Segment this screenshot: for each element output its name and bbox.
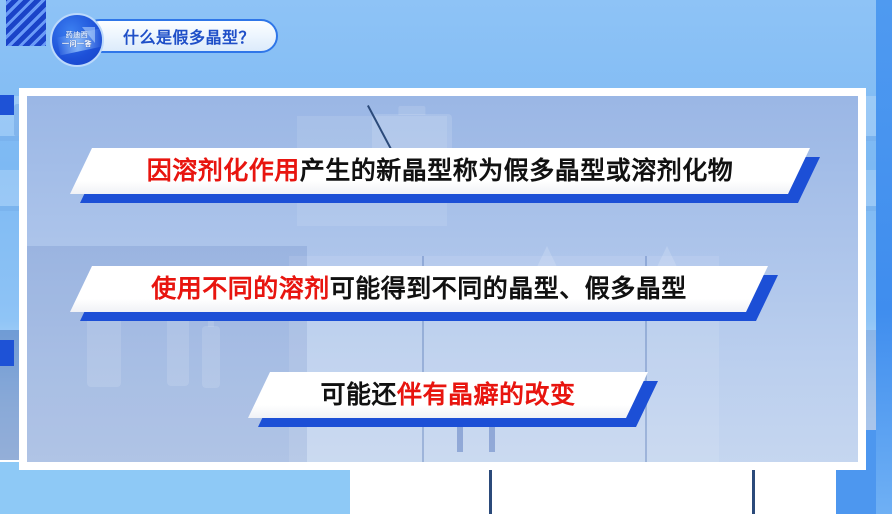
decor-right-edge xyxy=(876,0,892,514)
badge-line-2: 一问一答 xyxy=(62,40,92,49)
banner-2-plain: 可能得到不同的晶型、假多晶型 xyxy=(330,275,687,303)
banner-face: 使用不同的溶剂可能得到不同的晶型、假多晶型 xyxy=(70,266,768,312)
page-title: 什么是假多晶型？ xyxy=(123,24,255,48)
statement-banner-3: 可能还伴有晶癖的改变 xyxy=(248,372,648,418)
question-title-pill: 什么是假多晶型？ xyxy=(83,19,278,53)
banner-2-highlight: 使用不同的溶剂 xyxy=(151,275,330,303)
banner-3-highlight: 伴有晶癖的改变 xyxy=(397,381,576,409)
banner-3-plain: 可能还 xyxy=(320,381,397,409)
banner-face: 可能还伴有晶癖的改变 xyxy=(248,372,648,418)
banner-text-1: 因溶剂化作用产生的新晶型称为假多晶型或溶剂化物 xyxy=(147,159,734,184)
statement-banner-2: 使用不同的溶剂可能得到不同的晶型、假多晶型 xyxy=(70,266,768,312)
banner-1-plain: 产生的新晶型称为假多晶型或溶剂化物 xyxy=(300,157,734,185)
banner-text-2: 使用不同的溶剂可能得到不同的晶型、假多晶型 xyxy=(151,277,687,302)
banner-text-3: 可能还伴有晶癖的改变 xyxy=(320,383,575,408)
decor-left-accent-1 xyxy=(0,95,14,115)
statement-banner-1: 因溶剂化作用产生的新晶型称为假多晶型或溶剂化物 xyxy=(70,148,810,194)
program-logo-badge: 药迪西 一问一答 xyxy=(50,13,104,67)
badge-line-1: 药迪西 xyxy=(66,31,89,40)
bottle-silhouette xyxy=(202,326,220,388)
banner-1-highlight: 因溶剂化作用 xyxy=(147,157,300,185)
header-bar: 什么是假多晶型？ 药迪西 一问一答 xyxy=(0,0,892,74)
screenshot-root: 什么是假多晶型？ 药迪西 一问一答 xyxy=(0,0,892,514)
decor-left-accent-2 xyxy=(0,340,14,366)
banner-face: 因溶剂化作用产生的新晶型称为假多晶型或溶剂化物 xyxy=(70,148,810,194)
